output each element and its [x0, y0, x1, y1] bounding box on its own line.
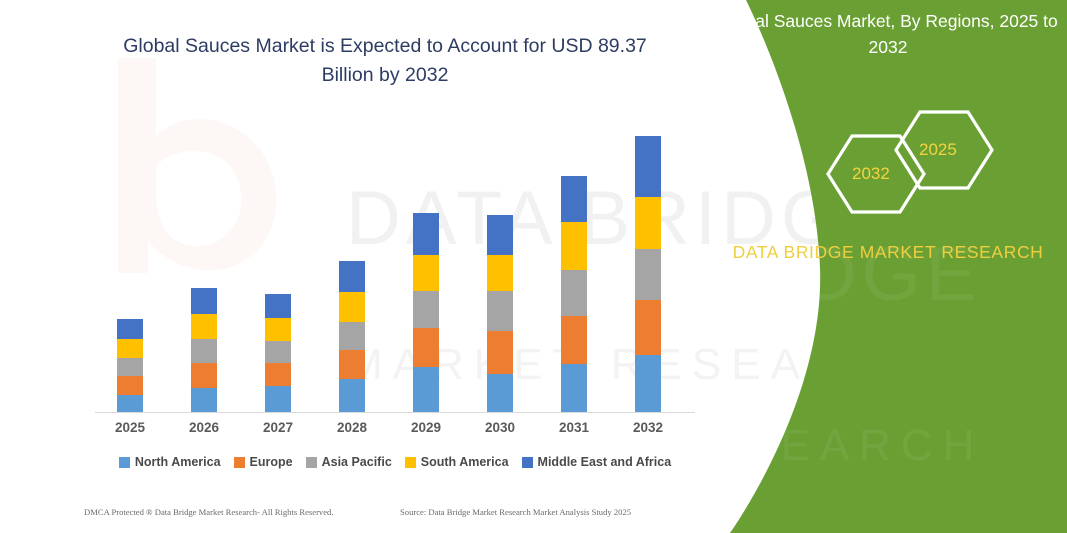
bar-segment: [635, 136, 661, 197]
bar-segment: [561, 222, 587, 270]
bar-column-2028[interactable]: [339, 261, 365, 412]
legend-swatch: [306, 457, 317, 468]
bar-segment: [635, 249, 661, 300]
bar-segment: [561, 364, 587, 412]
bar-segment: [635, 355, 661, 412]
bar-segment: [339, 322, 365, 350]
footer-source: Source: Data Bridge Market Research Mark…: [400, 507, 631, 517]
bar-segment: [265, 341, 291, 363]
bar-segment: [413, 255, 439, 291]
bar-segment: [413, 213, 439, 255]
x-axis-label-2026: 2026: [169, 420, 239, 435]
bar-segment: [191, 363, 217, 388]
bar-segment: [413, 367, 439, 412]
chart-panel: DATA BRIDGE MARKET RESEARCH Global Sauce…: [0, 0, 760, 533]
bar-segment: [265, 318, 291, 341]
bar-segment: [487, 374, 513, 412]
chart-legend: North AmericaEuropeAsia PacificSouth Ame…: [95, 455, 695, 469]
hexagon-group: 2025 2032: [780, 104, 1050, 219]
legend-label: Europe: [250, 455, 293, 469]
infographic-root: DATA BRIDGE MARKET RESEARCH Global Sauce…: [0, 0, 1067, 533]
bar-segment: [561, 176, 587, 222]
green-panel-content: Global Sauces Market, By Regions, 2025 t…: [700, 0, 1067, 533]
legend-item[interactable]: Middle East and Africa: [522, 455, 672, 469]
x-axis-label-2028: 2028: [317, 420, 387, 435]
bar-column-2025[interactable]: [117, 319, 143, 412]
bar-segment: [561, 316, 587, 364]
bar-segment: [487, 331, 513, 374]
bar-segment: [265, 386, 291, 412]
bar-column-2031[interactable]: [561, 176, 587, 412]
hexagon-label-2025: 2025: [919, 140, 957, 160]
legend-label: South America: [421, 455, 509, 469]
x-axis-label-2032: 2032: [613, 420, 683, 435]
bar-segment: [191, 288, 217, 314]
x-axis-label-2030: 2030: [465, 420, 535, 435]
bar-segment: [635, 197, 661, 249]
legend-item[interactable]: Asia Pacific: [306, 455, 392, 469]
bar-segment: [191, 339, 217, 363]
bar-segment: [339, 350, 365, 379]
bar-segment: [339, 261, 365, 292]
hexagons-icon: [780, 104, 1050, 219]
legend-swatch: [119, 457, 130, 468]
panel-title: Global Sauces Market, By Regions, 2025 t…: [718, 8, 1058, 60]
bar-segment: [339, 379, 365, 412]
bar-segment: [487, 215, 513, 255]
bar-segment: [117, 339, 143, 358]
bar-segment: [487, 255, 513, 291]
legend-swatch: [405, 457, 416, 468]
x-axis-labels: 20252026202720282029203020312032: [95, 420, 695, 442]
brand-name: DATA BRIDGE MARKET RESEARCH: [728, 238, 1048, 267]
legend-label: Asia Pacific: [322, 455, 392, 469]
bar-segment: [487, 291, 513, 331]
bar-segment: [413, 291, 439, 328]
bar-segment: [265, 294, 291, 318]
bar-column-2032[interactable]: [635, 136, 661, 412]
footer-copyright: DMCA Protected ® Data Bridge Market Rese…: [84, 507, 334, 517]
x-axis-label-2027: 2027: [243, 420, 313, 435]
green-side-panel: BRIDGE RESEARCH Global Sauces Market, By…: [700, 0, 1067, 533]
x-axis-baseline: [95, 412, 695, 413]
legend-swatch: [522, 457, 533, 468]
legend-swatch: [234, 457, 245, 468]
legend-item[interactable]: North America: [119, 455, 221, 469]
legend-item[interactable]: South America: [405, 455, 509, 469]
bar-segment: [413, 328, 439, 367]
legend-item[interactable]: Europe: [234, 455, 293, 469]
bar-segment: [117, 395, 143, 412]
bar-column-2029[interactable]: [413, 213, 439, 412]
bar-segment: [117, 376, 143, 395]
bar-segment: [191, 388, 217, 412]
legend-label: Middle East and Africa: [538, 455, 672, 469]
x-axis-label-2031: 2031: [539, 420, 609, 435]
x-axis-label-2025: 2025: [95, 420, 165, 435]
bar-segment: [339, 292, 365, 322]
plot-area: [95, 110, 695, 413]
bar-segment: [265, 363, 291, 386]
bar-segment: [117, 319, 143, 339]
legend-label: North America: [135, 455, 221, 469]
bar-column-2026[interactable]: [191, 288, 217, 412]
bar-segment: [191, 314, 217, 339]
bar-segment: [561, 270, 587, 316]
chart-title: Global Sauces Market is Expected to Acco…: [95, 32, 675, 90]
hexagon-label-2032: 2032: [852, 164, 890, 184]
bar-column-2027[interactable]: [265, 294, 291, 412]
bar-segment: [117, 358, 143, 376]
bar-segment: [635, 300, 661, 355]
bar-column-2030[interactable]: [487, 215, 513, 412]
x-axis-label-2029: 2029: [391, 420, 461, 435]
